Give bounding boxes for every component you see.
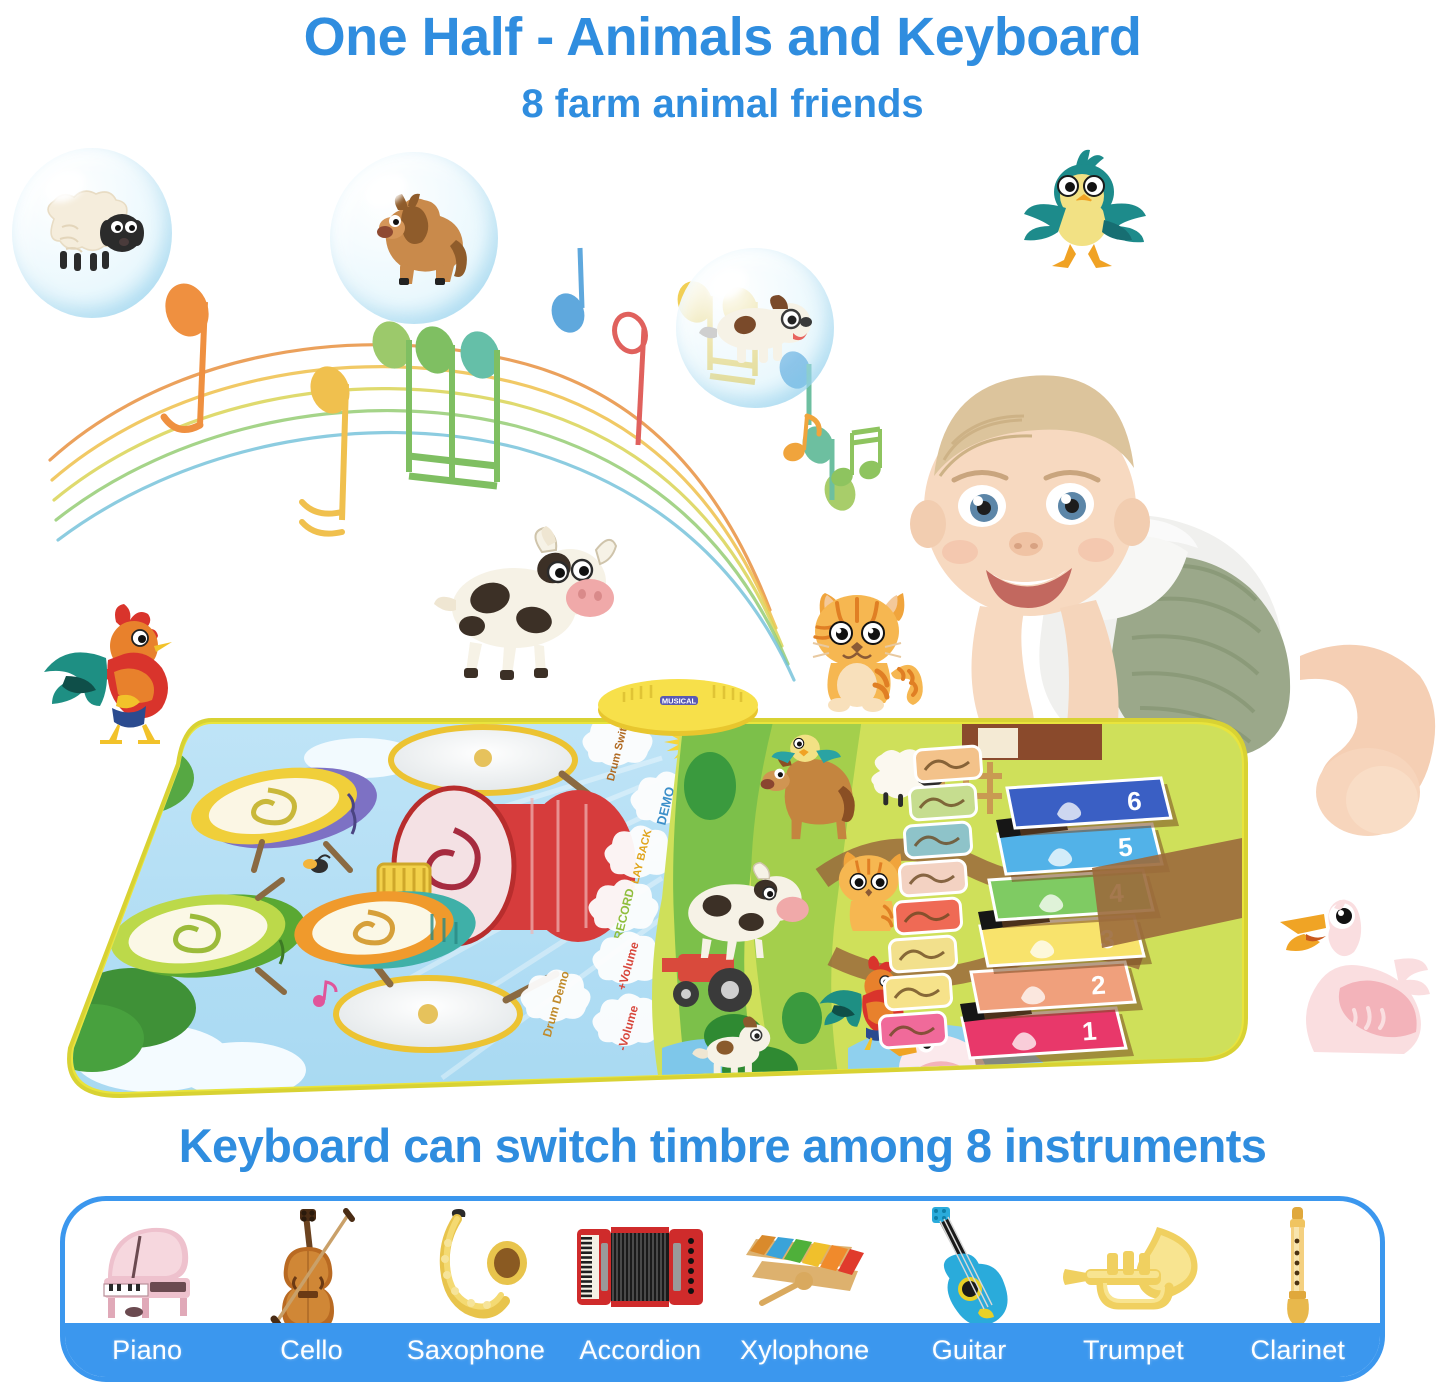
instrument-label-cello: Cello (229, 1335, 393, 1366)
xylophone-icon (740, 1215, 870, 1320)
bubble-horse (330, 152, 498, 324)
instrument-cell-cello (229, 1201, 393, 1333)
mat-instrument-button-accordion[interactable] (899, 860, 967, 897)
bubble-sheep (12, 148, 172, 318)
instrument-label-clarinet: Clarinet (1216, 1335, 1380, 1366)
cow-illustration (430, 520, 620, 680)
tagline: Keyboard can switch timbre among 8 instr… (0, 1118, 1445, 1173)
instrument-cell-saxophone (394, 1201, 558, 1333)
cow-icon (430, 520, 620, 680)
instrument-label-piano: Piano (65, 1335, 229, 1366)
piano-key-number: 2 (1090, 970, 1107, 1001)
horse-icon (352, 188, 477, 288)
swan-icon (1254, 892, 1434, 1067)
piano-key-6[interactable]: 6 (1007, 778, 1179, 836)
mat-instrument-button-saxophone[interactable] (904, 822, 972, 859)
bird-icon (1018, 148, 1148, 273)
instrument-label-guitar: Guitar (887, 1335, 1051, 1366)
floating-music-note-orange (780, 410, 830, 470)
mat-instrument-button-piano[interactable] (914, 746, 982, 783)
bubble-dog (676, 248, 834, 408)
instrument-cell-xylophone (723, 1201, 887, 1333)
mat-speaker-module[interactable]: MUSICAL (596, 676, 761, 738)
speaker-brand-text: MUSICAL (662, 696, 697, 705)
sheep-icon (32, 193, 152, 273)
piano-key-number: 6 (1126, 786, 1143, 817)
piano-key-number: 1 (1081, 1016, 1098, 1047)
instrument-cell-clarinet (1216, 1201, 1380, 1333)
piano-icon (90, 1212, 205, 1322)
guitar-icon (914, 1205, 1024, 1330)
page-subtitle: 8 farm animal friends (0, 82, 1445, 127)
instrument-cell-guitar (887, 1201, 1051, 1333)
mat-instrument-button-guitar[interactable] (889, 936, 957, 973)
instrument-label-accordion: Accordion (558, 1335, 722, 1366)
clarinet-icon (1268, 1205, 1328, 1330)
instrument-label-xylophone: Xylophone (723, 1335, 887, 1366)
mat-instrument-button-xylophone[interactable] (894, 898, 962, 935)
instrument-cell-piano (65, 1201, 229, 1333)
piano-key-number: 5 (1117, 832, 1134, 863)
instrument-label-trumpet: Trumpet (1051, 1335, 1215, 1366)
mat-instrument-button-trumpet[interactable] (884, 974, 952, 1011)
saxophone-icon (423, 1207, 528, 1327)
accordion-icon (573, 1217, 708, 1317)
instrument-label-saxophone: Saxophone (394, 1335, 558, 1366)
page-title: One Half - Animals and Keyboard (0, 6, 1445, 68)
mat-instrument-button-cello[interactable] (909, 784, 977, 821)
swan-illustration (1254, 892, 1434, 1067)
mat-instrument-button-flute[interactable] (879, 1012, 947, 1049)
floating-music-note-green (830, 425, 890, 495)
instrument-panel: PianoCelloSaxophoneAccordionXylophoneGui… (60, 1196, 1385, 1382)
bird-illustration (1018, 148, 1148, 273)
dog-icon (693, 289, 818, 367)
instrument-cell-accordion (558, 1201, 722, 1333)
cello-icon (254, 1207, 369, 1327)
instrument-cell-trumpet (1051, 1201, 1215, 1333)
music-mat[interactable]: Drum SwitchSTOPDEMOPLAY BACKRECORD+Volum… (62, 718, 1242, 1098)
trumpet-icon (1061, 1217, 1206, 1317)
instrument-labels-strip: PianoCelloSaxophoneAccordionXylophoneGui… (65, 1323, 1380, 1377)
instrument-icons-row (65, 1201, 1380, 1333)
